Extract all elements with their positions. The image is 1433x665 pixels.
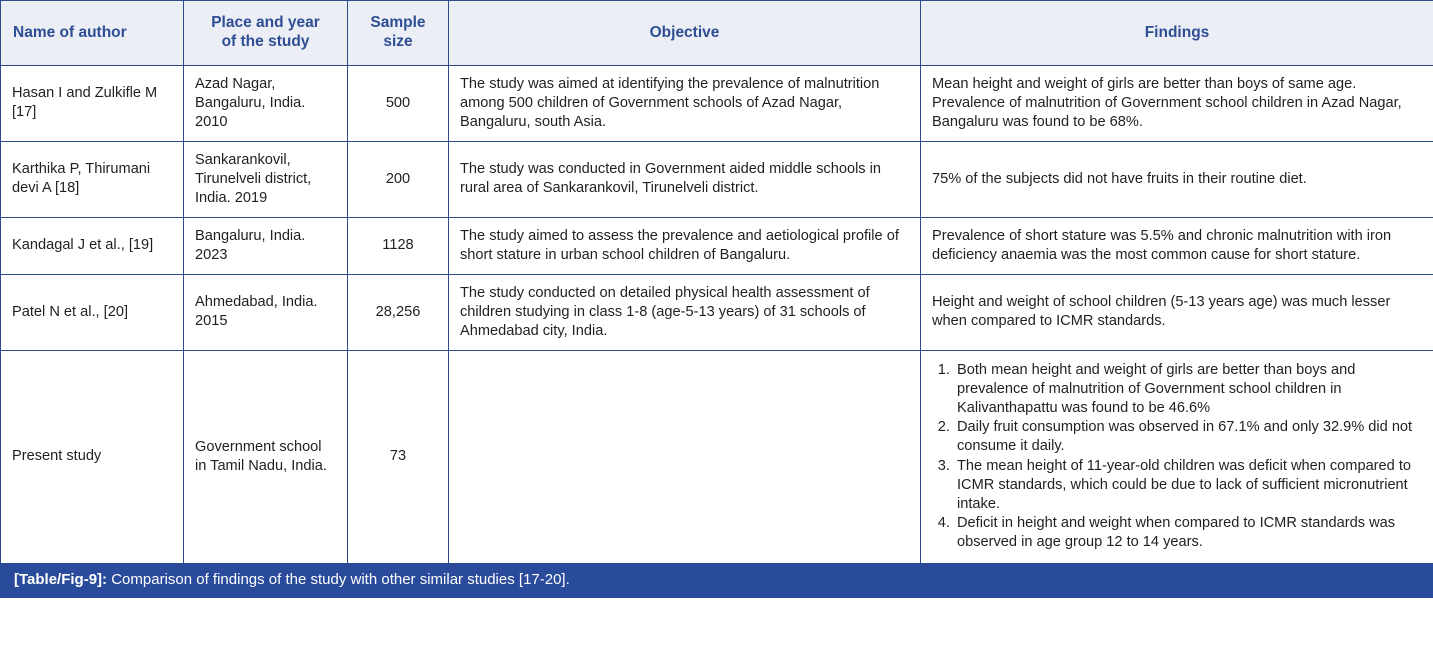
header-row: Name of author Place and year of the stu… [1,1,1433,66]
cell-place: Bangaluru, India. 2023 [184,217,348,274]
list-item: Deficit in height and weight when compar… [954,514,1422,552]
cell-sample-size: 73 [348,350,449,563]
comparison-table: Name of author Place and year of the stu… [0,0,1433,564]
cell-sample-size: 500 [348,66,449,142]
column-header-author: Name of author [1,1,184,66]
column-header-sample-size: Sample size [348,1,449,66]
cell-place: Government school in Tamil Nadu, India. [184,350,348,563]
table-row: Patel N et al., [20] Ahmedabad, India. 2… [1,274,1433,350]
cell-author: Kandagal J et al., [19] [1,217,184,274]
cell-sample-size: 1128 [348,217,449,274]
cell-objective: The study was conducted in Government ai… [449,141,921,217]
column-header-place: Place and year of the study [184,1,348,66]
table-row: Karthika P, Thirumani devi A [18] Sankar… [1,141,1433,217]
cell-place: Ahmedabad, India. 2015 [184,274,348,350]
cell-sample-size: 200 [348,141,449,217]
cell-author: Hasan I and Zulkifle M [17] [1,66,184,142]
table-header: Name of author Place and year of the stu… [1,1,1433,66]
table-body: Hasan I and Zulkifle M [17] Azad Nagar, … [1,66,1433,564]
findings-list: Both mean height and weight of girls are… [932,361,1422,553]
cell-findings: Mean height and weight of girls are bett… [921,66,1433,142]
table-row: Kandagal J et al., [19] Bangaluru, India… [1,217,1433,274]
list-item: Daily fruit consumption was observed in … [954,418,1422,456]
caption-label: [Table/Fig-9]: [14,571,107,588]
column-header-place-line1: Place and year [211,14,320,31]
cell-author: Present study [1,350,184,563]
cell-findings: Height and weight of school children (5-… [921,274,1433,350]
cell-place: Azad Nagar, Bangaluru, India. 2010 [184,66,348,142]
cell-findings: Prevalence of short stature was 5.5% and… [921,217,1433,274]
cell-sample-size: 28,256 [348,274,449,350]
cell-objective [449,350,921,563]
cell-objective: The study conducted on detailed physical… [449,274,921,350]
cell-author: Patel N et al., [20] [1,274,184,350]
column-header-sample-line1: Sample [370,14,425,31]
caption-description: Comparison of findings of the study with… [107,571,570,588]
list-item: Both mean height and weight of girls are… [954,361,1422,419]
column-header-objective: Objective [449,1,921,66]
cell-place: Sankarankovil, Tirunelveli district, Ind… [184,141,348,217]
table-row-present-study: Present study Government school in Tamil… [1,350,1433,563]
cell-objective: The study aimed to assess the prevalence… [449,217,921,274]
table-caption: [Table/Fig-9]: Comparison of findings of… [0,564,1433,598]
cell-objective: The study was aimed at identifying the p… [449,66,921,142]
list-item: The mean height of 11-year-old children … [954,457,1422,515]
cell-findings: Both mean height and weight of girls are… [921,350,1433,563]
cell-findings: 75% of the subjects did not have fruits … [921,141,1433,217]
table-row: Hasan I and Zulkifle M [17] Azad Nagar, … [1,66,1433,142]
column-header-findings: Findings [921,1,1433,66]
cell-author: Karthika P, Thirumani devi A [18] [1,141,184,217]
column-header-place-line2: of the study [222,33,310,50]
table-figure: Name of author Place and year of the stu… [0,0,1433,665]
column-header-sample-line2: size [383,33,412,50]
